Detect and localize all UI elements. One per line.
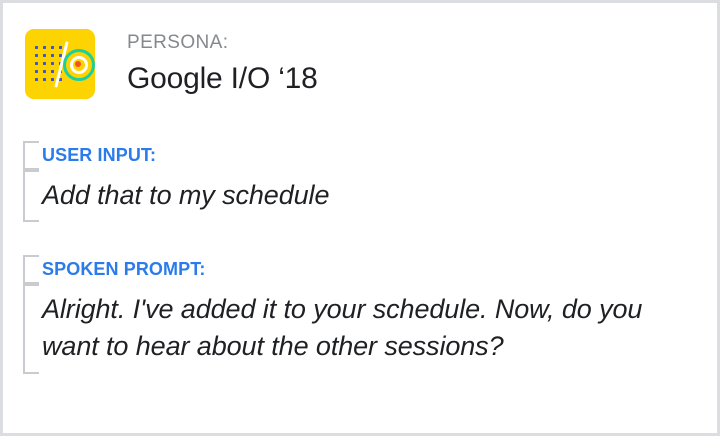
logo-rings-icon <box>63 49 95 81</box>
bracket-tick-bottom <box>23 220 39 222</box>
bracket-tick-top <box>23 170 39 172</box>
google-io-logo-icon <box>25 29 95 99</box>
bracket-tick-top <box>23 284 39 286</box>
bracket-tick-top <box>23 255 39 257</box>
logo-ring-core <box>75 61 81 67</box>
persona-label: PERSONA: <box>127 31 318 55</box>
spoken-prompt-label-bracket: SPOKEN PROMPT: <box>23 255 702 284</box>
spoken-prompt-text-bracket: Alright. I've added it to your schedule.… <box>23 284 702 374</box>
spoken-prompt-label: SPOKEN PROMPT: <box>42 255 702 284</box>
persona-header: PERSONA: Google I/O ‘18 <box>25 29 318 99</box>
bracket-tick-bottom <box>23 372 39 374</box>
persona-text-group: PERSONA: Google I/O ‘18 <box>127 29 318 98</box>
persona-prompt-card: PERSONA: Google I/O ‘18 USER INPUT: Add … <box>0 0 720 436</box>
user-input-text: Add that to my schedule <box>42 170 329 222</box>
spoken-prompt-text: Alright. I've added it to your schedule.… <box>42 284 702 374</box>
persona-name: Google I/O ‘18 <box>127 59 318 98</box>
spoken-prompt-section: SPOKEN PROMPT: Alright. I've added it to… <box>23 255 702 374</box>
user-input-label: USER INPUT: <box>42 141 329 170</box>
user-input-label-bracket: USER INPUT: <box>23 141 329 170</box>
user-input-section: USER INPUT: Add that to my schedule <box>23 141 329 222</box>
bracket-tick-top <box>23 141 39 143</box>
user-input-text-bracket: Add that to my schedule <box>23 170 329 222</box>
